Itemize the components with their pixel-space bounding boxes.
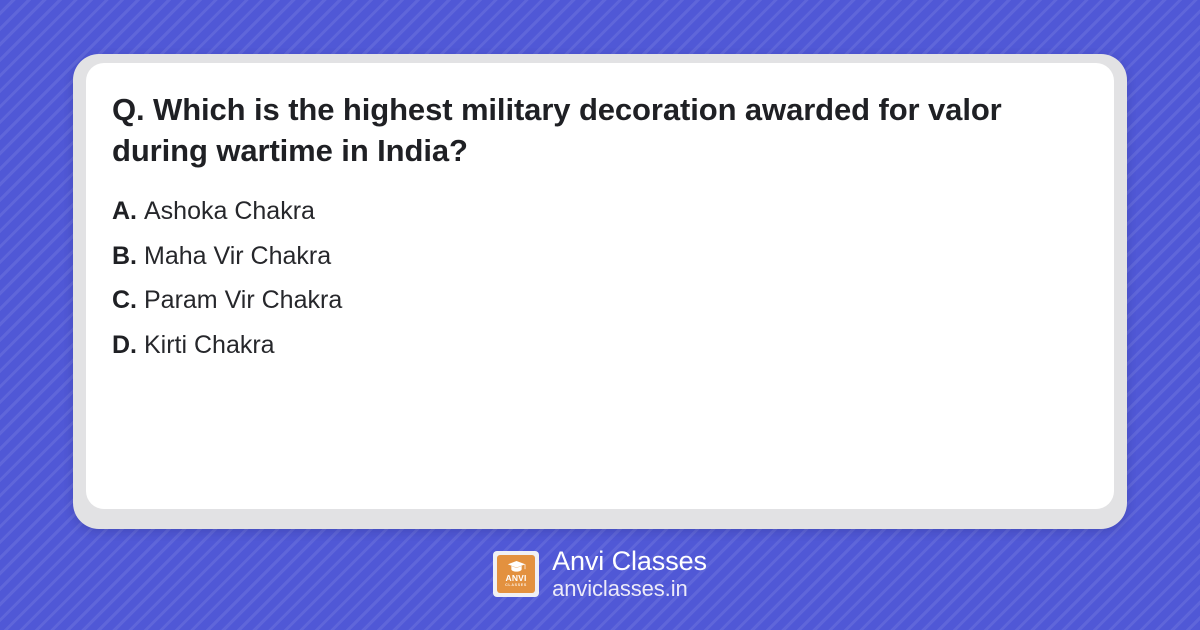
option-b[interactable]: B. Maha Vir Chakra (112, 234, 1094, 279)
option-d-text: Kirti Chakra (144, 323, 275, 368)
option-d-letter: D. (112, 323, 137, 368)
option-a-letter: A. (112, 189, 137, 234)
brand-text-block: Anvi Classes anviclasses.in (552, 546, 707, 602)
question-text: Q. Which is the highest military decorat… (112, 89, 1057, 171)
brand-logo: ANVI CLASSES (493, 551, 539, 597)
option-d[interactable]: D. Kirti Chakra (112, 323, 1094, 368)
option-b-letter: B. (112, 234, 137, 279)
graduation-cap-icon (507, 560, 526, 573)
options-list: A. Ashoka Chakra B. Maha Vir Chakra C. P… (112, 189, 1094, 367)
brand-logo-name: ANVI (506, 574, 527, 583)
brand-title: Anvi Classes (552, 546, 707, 576)
question-card: Q. Which is the highest military decorat… (86, 63, 1114, 509)
option-b-text: Maha Vir Chakra (144, 234, 331, 279)
option-a-text: Ashoka Chakra (144, 189, 315, 234)
question-card-frame: Q. Which is the highest military decorat… (73, 54, 1127, 529)
brand-logo-tile: ANVI CLASSES (497, 555, 535, 593)
brand-logo-subtitle: CLASSES (505, 584, 527, 588)
quiz-card-page: Q. Which is the highest military decorat… (0, 0, 1200, 630)
option-c-letter: C. (112, 278, 137, 323)
option-c-text: Param Vir Chakra (144, 278, 342, 323)
footer-branding: ANVI CLASSES Anvi Classes anviclasses.in (0, 546, 1200, 602)
brand-url[interactable]: anviclasses.in (552, 576, 707, 602)
option-a[interactable]: A. Ashoka Chakra (112, 189, 1094, 234)
question-card-content: Q. Which is the highest military decorat… (112, 89, 1094, 367)
option-c[interactable]: C. Param Vir Chakra (112, 278, 1094, 323)
